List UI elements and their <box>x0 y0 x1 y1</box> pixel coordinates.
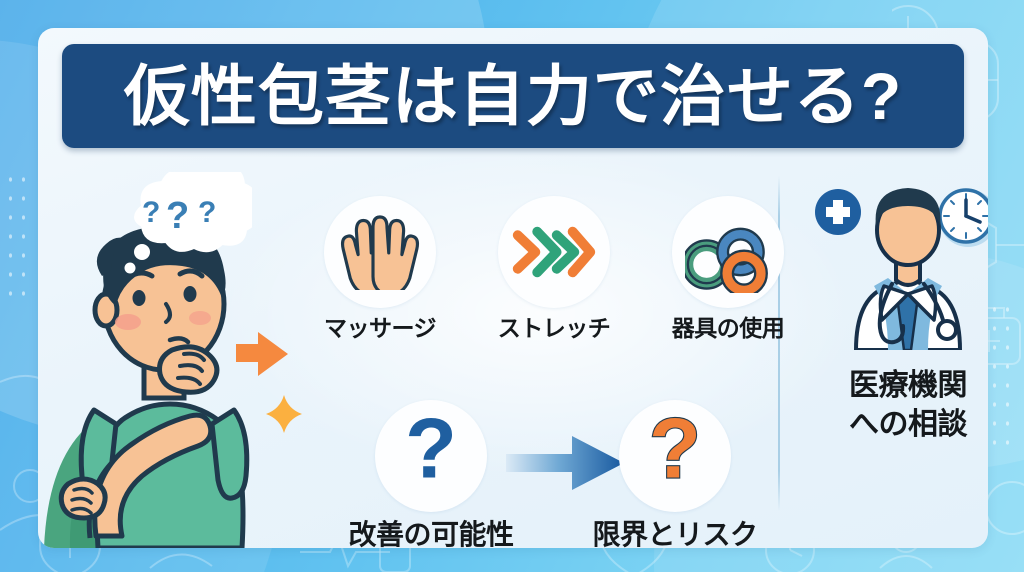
outcome-label-improvement: 改善の可能性 <box>338 520 524 548</box>
question-mark-blue-icon: ? <box>375 400 487 512</box>
svg-text:?: ? <box>198 196 216 229</box>
question-mark-orange-icon: ? <box>619 400 731 512</box>
page-title: 仮性包茎は自力で治せる? <box>124 63 902 129</box>
title-banner: 仮性包茎は自力で治せる? <box>62 44 964 148</box>
outcome-label-risk: 限界とリスク <box>586 520 764 548</box>
method-label-device: 器具の使用 <box>648 316 808 341</box>
clock-icon <box>939 189 988 247</box>
method-label-stretch: ストレッチ <box>480 316 628 341</box>
method-item-device[interactable]: 器具の使用 <box>648 196 808 341</box>
outcome-item-risk[interactable]: ? 限界とリスク <box>586 400 764 548</box>
right-panel-label: 医療機関 への相談 <box>798 366 988 444</box>
sparkle-icon <box>266 395 302 433</box>
right-panel-label-line2: への相談 <box>798 405 988 444</box>
svg-text:?: ? <box>142 196 160 229</box>
dot-grid-pattern-right <box>988 300 1018 450</box>
open-hands-icon <box>324 196 436 308</box>
svg-text:?: ? <box>166 195 189 237</box>
svg-text:?: ? <box>649 415 701 496</box>
outcome-item-improvement[interactable]: ? 改善の可能性 <box>338 400 524 548</box>
right-panel-label-line1: 医療機関 <box>798 366 988 405</box>
doctor-illustration <box>808 178 988 350</box>
content-card: 仮性包茎は自力で治せる? <box>38 28 988 548</box>
orange-arrow-icon <box>234 328 290 380</box>
method-item-massage[interactable]: マッサージ <box>310 196 450 341</box>
three-rings-icon <box>672 196 784 308</box>
method-label-massage: マッサージ <box>310 316 450 341</box>
right-panel-consultation[interactable]: 医療機関 への相談 <box>798 178 988 444</box>
medical-cross-badge-icon <box>815 189 861 235</box>
double-chevrons-right-icon <box>498 196 610 308</box>
method-item-stretch[interactable]: ストレッチ <box>480 196 628 341</box>
thought-bubble-icon: ? ? ? <box>112 172 252 282</box>
svg-text:?: ? <box>405 415 457 496</box>
infographic-canvas: 仮性包茎は自力で治せる? <box>0 0 1024 572</box>
dot-grid-pattern-left <box>4 170 34 302</box>
